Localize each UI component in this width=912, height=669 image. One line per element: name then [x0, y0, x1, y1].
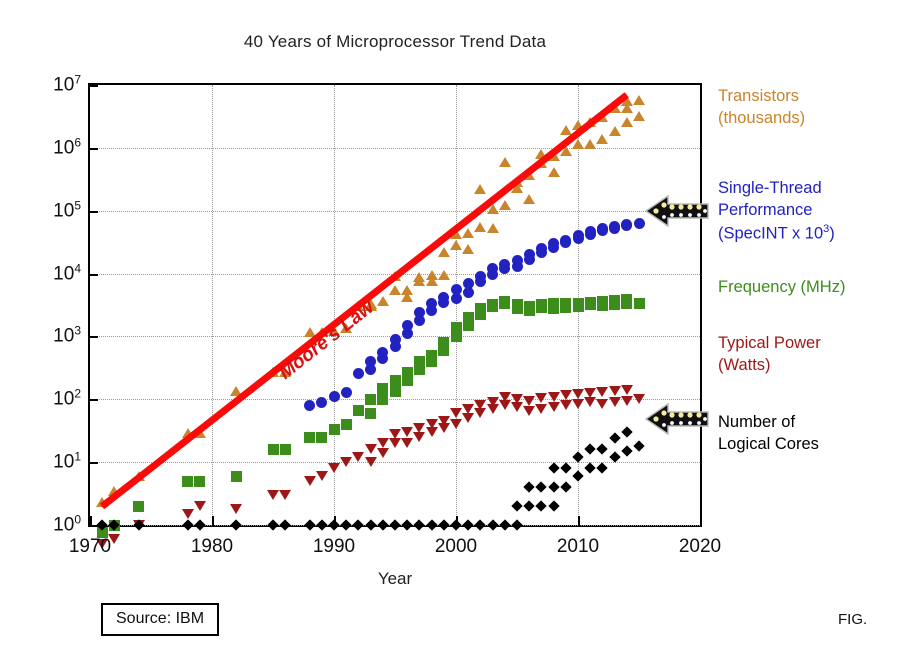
data-point: [450, 419, 462, 429]
data-point: [633, 111, 645, 121]
data-point: [133, 501, 144, 512]
data-point: [487, 397, 499, 407]
data-point: [572, 389, 584, 399]
data-point: [523, 396, 535, 406]
data-point: [390, 375, 401, 386]
data-point: [621, 396, 633, 406]
x-tick-label: 2000: [435, 536, 477, 558]
data-point: [621, 219, 632, 230]
data-point: [353, 405, 364, 416]
data-point: [365, 444, 377, 454]
data-point: [280, 519, 291, 530]
data-point: [304, 476, 316, 486]
data-point: [316, 432, 327, 443]
y-gridline: [90, 148, 700, 149]
data-point: [573, 230, 584, 241]
data-point: [182, 519, 193, 530]
data-point: [462, 228, 474, 238]
data-point: [487, 299, 498, 310]
data-point: [621, 426, 632, 437]
data-point: [316, 519, 327, 530]
data-point: [474, 400, 486, 410]
x-tick-mark: [90, 516, 92, 526]
x-tick-label: 2010: [557, 536, 599, 558]
page-title: 40 Years of Microprocessor Trend Data: [88, 32, 702, 52]
data-point: [499, 519, 510, 530]
y-tick-label: 107: [53, 72, 81, 96]
x-gridline: [212, 85, 213, 525]
data-point: [426, 419, 438, 429]
data-point: [511, 394, 523, 404]
data-point: [524, 500, 535, 511]
data-point: [585, 297, 596, 308]
data-point: [621, 294, 632, 305]
data-point: [353, 368, 364, 379]
data-point: [475, 271, 486, 282]
data-point: [524, 481, 535, 492]
x-tick-mark: [700, 516, 702, 526]
data-point: [463, 312, 474, 323]
data-point: [462, 404, 474, 414]
data-point: [511, 519, 522, 530]
data-point: [474, 222, 486, 232]
x-gridline: [334, 85, 335, 525]
data-point: [340, 457, 352, 467]
data-point: [352, 452, 364, 462]
microprocessor-trend-figure: 40 Years of Microprocessor Trend Data Mo…: [0, 0, 912, 669]
data-point: [499, 157, 511, 167]
y-tick-mark: [89, 462, 98, 464]
legend-item-single-thread-performance: Single-ThreadPerformance(SpecINT x 103): [718, 178, 835, 245]
x-tick-label: 1980: [191, 536, 233, 558]
figure-label: FIG.: [838, 611, 867, 628]
data-point: [438, 337, 449, 348]
data-point: [572, 451, 583, 462]
y-tick-label: 102: [53, 387, 81, 411]
data-point: [426, 519, 437, 530]
data-point: [609, 386, 621, 396]
data-point: [560, 235, 571, 246]
data-point: [572, 470, 583, 481]
data-point: [329, 424, 340, 435]
data-point: [560, 463, 571, 474]
data-point: [401, 285, 413, 295]
data-point: [402, 367, 413, 378]
data-point: [536, 500, 547, 511]
data-point: [377, 438, 389, 448]
data-point: [413, 272, 425, 282]
data-point: [597, 463, 608, 474]
data-point: [573, 298, 584, 309]
data-point: [377, 383, 388, 394]
data-point: [597, 223, 608, 234]
data-point: [377, 394, 388, 405]
data-point: [341, 519, 352, 530]
data-point: [462, 244, 474, 254]
data-point: [597, 444, 608, 455]
data-point: [414, 356, 425, 367]
data-point: [402, 320, 413, 331]
data-point: [609, 451, 620, 462]
data-point: [328, 463, 340, 473]
data-point: [426, 350, 437, 361]
y-gridline: [90, 462, 700, 463]
data-point: [438, 270, 450, 280]
data-point: [560, 481, 571, 492]
y-tick-mark: [89, 274, 98, 276]
data-point: [194, 519, 205, 530]
data-point: [341, 419, 352, 430]
legend-item-transistors: Transistors(thousands): [718, 86, 805, 130]
data-point: [597, 296, 608, 307]
x-tick-mark: [578, 516, 580, 526]
x-axis-label: Year: [88, 569, 702, 589]
y-tick-label: 101: [53, 449, 81, 473]
data-point: [377, 519, 388, 530]
data-point: [609, 397, 621, 407]
data-point: [438, 292, 449, 303]
data-point: [548, 481, 559, 492]
plot-area: Moore's Law 1001011021031041051061071970…: [88, 83, 702, 527]
data-point: [536, 481, 547, 492]
data-point: [304, 400, 315, 411]
data-point: [401, 427, 413, 437]
data-point: [438, 519, 449, 530]
data-point: [413, 432, 425, 442]
data-point: [499, 296, 510, 307]
x-tick-label: 2020: [679, 536, 721, 558]
y-tick-label: 106: [53, 135, 81, 159]
data-point: [279, 490, 291, 500]
data-point: [548, 500, 559, 511]
data-point: [524, 301, 535, 312]
data-point: [426, 270, 438, 280]
data-point: [634, 298, 645, 309]
y-tick-mark: [89, 336, 98, 338]
data-point: [585, 444, 596, 455]
data-point: [523, 194, 535, 204]
y-tick-label: 105: [53, 198, 81, 222]
y-tick-label: 100: [53, 512, 81, 536]
data-point: [548, 392, 560, 402]
data-point: [182, 476, 193, 487]
data-point: [463, 519, 474, 530]
data-point: [585, 463, 596, 474]
data-point: [609, 295, 620, 306]
data-point: [389, 429, 401, 439]
data-point: [267, 490, 279, 500]
data-point: [414, 519, 425, 530]
data-point: [560, 298, 571, 309]
data-point: [414, 307, 425, 318]
data-point: [231, 519, 242, 530]
data-point: [633, 440, 644, 451]
data-point: [365, 394, 376, 405]
data-point: [402, 519, 413, 530]
data-point: [535, 404, 547, 414]
data-point: [280, 444, 291, 455]
data-point: [560, 390, 572, 400]
x-tick-mark: [212, 516, 214, 526]
data-point: [548, 298, 559, 309]
data-point: [523, 406, 535, 416]
data-point: [535, 393, 547, 403]
y-tick-mark: [89, 85, 98, 87]
left-arrow-icon: [644, 192, 710, 230]
data-point: [316, 397, 327, 408]
data-point: [304, 432, 315, 443]
data-point: [499, 200, 511, 210]
y-tick-mark: [89, 148, 98, 150]
data-point: [377, 448, 389, 458]
data-point: [560, 400, 572, 410]
data-point: [365, 408, 376, 419]
data-point: [304, 519, 315, 530]
data-point: [365, 519, 376, 530]
data-point: [390, 386, 401, 397]
data-point: [499, 392, 511, 402]
data-point: [621, 385, 633, 395]
data-point: [536, 299, 547, 310]
x-gridline: [456, 85, 457, 525]
data-point: [438, 416, 450, 426]
data-point: [413, 423, 425, 433]
data-point: [512, 255, 523, 266]
data-point: [450, 240, 462, 250]
data-point: [267, 519, 278, 530]
x-tick-label: 1970: [69, 536, 111, 558]
y-tick-label: 103: [53, 324, 81, 348]
data-point: [451, 284, 462, 295]
data-point: [609, 433, 620, 444]
data-point: [474, 184, 486, 194]
data-point: [401, 438, 413, 448]
data-point: [268, 444, 279, 455]
data-point: [390, 334, 401, 345]
data-point: [621, 117, 633, 127]
data-point: [596, 134, 608, 144]
data-point: [341, 387, 352, 398]
data-point: [572, 399, 584, 409]
data-point: [596, 399, 608, 409]
source-note: Source: IBM: [101, 603, 219, 636]
data-point: [475, 519, 486, 530]
data-point: [194, 501, 206, 511]
data-point: [548, 402, 560, 412]
data-point: [475, 303, 486, 314]
y-tick-label: 104: [53, 261, 81, 285]
legend-item-frequency: Frequency (MHz): [718, 277, 845, 299]
data-point: [450, 408, 462, 418]
data-point: [584, 388, 596, 398]
data-point: [353, 519, 364, 530]
data-point: [438, 247, 450, 257]
data-point: [633, 95, 645, 105]
data-point: [536, 243, 547, 254]
data-point: [389, 438, 401, 448]
data-point: [524, 249, 535, 260]
x-tick-label: 1990: [313, 536, 355, 558]
data-point: [194, 476, 205, 487]
data-point: [451, 322, 462, 333]
data-point: [462, 413, 474, 423]
data-point: [329, 391, 340, 402]
legend-item-typical-power: Typical Power(Watts): [718, 333, 821, 377]
data-point: [584, 139, 596, 149]
data-point: [548, 167, 560, 177]
data-point: [389, 519, 400, 530]
data-point: [609, 126, 621, 136]
data-point: [596, 387, 608, 397]
data-point: [634, 218, 645, 229]
y-tick-mark: [89, 399, 98, 401]
data-point: [182, 509, 194, 519]
y-tick-mark: [89, 211, 98, 213]
data-point: [499, 400, 511, 410]
legend-item-number-of-logical-cores: Number ofLogical Cores: [718, 412, 819, 456]
data-point: [377, 296, 389, 306]
data-point: [621, 445, 632, 456]
data-point: [511, 500, 522, 511]
data-point: [365, 457, 377, 467]
data-point: [389, 285, 401, 295]
data-point: [487, 519, 498, 530]
data-point: [584, 397, 596, 407]
data-point: [487, 223, 499, 233]
plot-inner: Moore's Law: [90, 85, 700, 525]
y-gridline: [90, 211, 700, 212]
x-tick-mark: [456, 516, 458, 526]
data-point: [463, 278, 474, 289]
left-arrow-icon: [644, 400, 710, 438]
data-point: [365, 356, 376, 367]
data-point: [548, 463, 559, 474]
data-point: [231, 471, 242, 482]
data-point: [316, 471, 328, 481]
data-point: [230, 504, 242, 514]
data-point: [512, 299, 523, 310]
x-tick-mark: [334, 516, 336, 526]
